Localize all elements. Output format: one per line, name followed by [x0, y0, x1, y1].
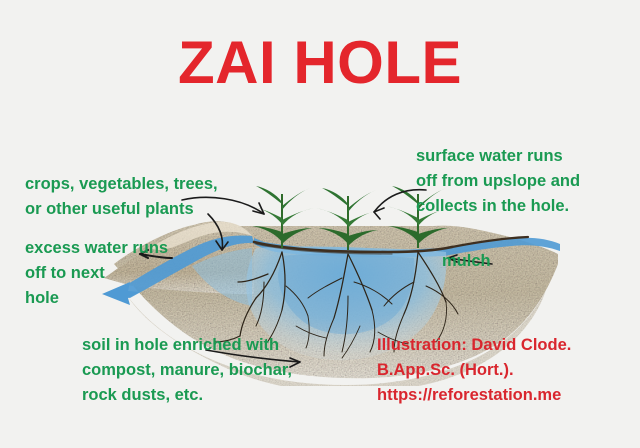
annotation-crops-line1: crops, vegetables, trees, [25, 172, 218, 197]
annotation-crops-line2: or other useful plants [25, 197, 218, 222]
credit-qualification: B.App.Sc. (Hort.). [377, 358, 571, 383]
illustration-credit: Illustration: David Clode. B.App.Sc. (Ho… [377, 333, 571, 408]
annotation-excess-line1: excess water runs [25, 236, 168, 261]
annotation-surface-line2: off from upslope and [416, 169, 580, 194]
annotation-mulch-line1: mulch [442, 249, 491, 274]
annotation-mulch: mulch [442, 249, 491, 274]
zai-hole-poster: ZAI HOLE [0, 0, 640, 448]
annotation-soil-line1: soil in hole enriched with [82, 333, 292, 358]
annotation-soil-line2: compost, manure, biochar, [82, 358, 292, 383]
page-title: ZAI HOLE [0, 30, 640, 96]
credit-website-link[interactable]: https://reforestation.me [377, 383, 571, 408]
annotation-excess-line3: hole [25, 286, 168, 311]
annotation-soil-line3: rock dusts, etc. [82, 383, 292, 408]
annotation-surface-water: surface water runs off from upslope and … [416, 144, 580, 219]
annotation-surface-line3: collects in the hole. [416, 194, 580, 219]
credit-author: Illustration: David Clode. [377, 333, 571, 358]
annotation-soil: soil in hole enriched with compost, manu… [82, 333, 292, 408]
annotation-surface-line1: surface water runs [416, 144, 580, 169]
annotation-excess-line2: off to next [25, 261, 168, 286]
annotation-excess-water: excess water runs off to next hole [25, 236, 168, 311]
annotation-crops: crops, vegetables, trees, or other usefu… [25, 172, 218, 222]
